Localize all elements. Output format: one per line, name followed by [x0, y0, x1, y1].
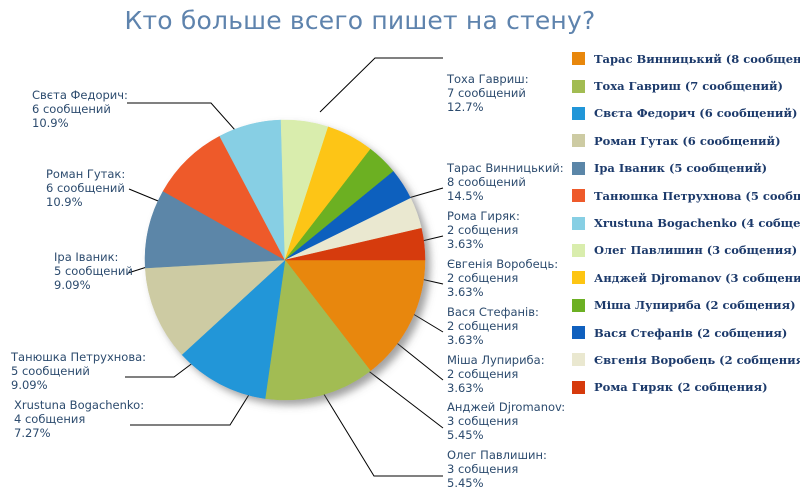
callout-count: 2 собщения [447, 223, 520, 237]
callout-percent: 7.27% [14, 426, 144, 440]
callout-percent: 10.9% [32, 116, 128, 130]
callout-percent: 3.63% [447, 285, 558, 299]
callout-roman-hutak: Роман Гутак:6 сообщений10.9% [46, 167, 125, 210]
legend-item-label: Іра Іваник (5 сообщений) [594, 161, 767, 175]
callout-svieta-fedorych: Свєта Федорич:6 сообщений10.9% [32, 88, 128, 131]
callout-name: Xrustuna Bogachenko: [14, 398, 144, 412]
legend-item[interactable]: Іра Іваник (5 сообщений) [572, 155, 800, 182]
legend-color-swatch [572, 162, 585, 175]
legend: Тарас Винницький (8 сообщений)Тоха Гаври… [572, 45, 800, 401]
legend-color-swatch [572, 189, 585, 202]
callout-percent: 14.5% [447, 189, 564, 203]
callout-vasia-stefaniv: Вася Стефанів:2 собщения3.63% [447, 305, 539, 348]
callout-oleh-pavlyshyn: Олег Павлишин:3 собщения5.45% [447, 448, 547, 491]
callout-count: 6 сообщений [46, 181, 125, 195]
callout-percent: 3.63% [447, 333, 539, 347]
callout-count: 8 сообщений [447, 175, 564, 189]
callout-misha-lupyryba: Міша Лупириба:2 собщения3.63% [447, 353, 545, 396]
callout-count: 6 сообщений [32, 102, 128, 116]
callout-taniushka-petrukhnova: Танюшка Петрухнова:5 сообщений9.09% [11, 350, 146, 393]
leader-line [362, 366, 443, 428]
callout-name: Анджей Djromanov: [447, 400, 565, 414]
legend-item-label: Тарас Винницький (8 сообщений) [594, 52, 800, 66]
callout-percent: 9.09% [54, 278, 133, 292]
legend-item-label: Рома Гиряк (2 собщения) [594, 380, 768, 394]
legend-item-label: Свєта Федорич (6 сообщений) [594, 106, 797, 120]
callout-percent: 5.45% [447, 428, 565, 442]
legend-color-swatch [572, 299, 585, 312]
callout-toha-gavrysh: Тоха Гавриш:7 сообщений12.7% [447, 72, 529, 115]
callout-ira-ivanyk: Іра Іваник:5 сообщений9.09% [54, 250, 133, 293]
callout-name: Міша Лупириба: [447, 353, 545, 367]
legend-color-swatch [572, 52, 585, 65]
callout-count: 2 собщения [447, 319, 539, 333]
legend-color-swatch [572, 107, 585, 120]
callout-taras-vynnytskyi: Тарас Винницький:8 сообщений14.5% [447, 161, 564, 204]
callout-count: 2 собщения [447, 367, 545, 381]
legend-item-label: Міша Лупириба (2 собщения) [594, 298, 796, 312]
callout-percent: 3.63% [447, 237, 520, 251]
callout-name: Євгенія Воробець: [447, 257, 558, 271]
legend-item-label: Роман Гутак (6 сообщений) [594, 134, 781, 148]
leader-line [320, 58, 443, 112]
callout-name: Вася Стефанів: [447, 305, 539, 319]
callout-name: Іра Іваник: [54, 250, 133, 264]
legend-item[interactable]: Xrustuna Bogachenko (4 собщения) [572, 209, 800, 236]
legend-item[interactable]: Тарас Винницький (8 сообщений) [572, 45, 800, 72]
legend-item[interactable]: Вася Стефанів (2 собщения) [572, 319, 800, 346]
legend-item-label: Танюшка Петрухнова (5 сообщений) [594, 189, 800, 203]
callout-percent: 9.09% [11, 378, 146, 392]
callout-count: 2 собщения [447, 271, 558, 285]
legend-item-label: Xrustuna Bogachenko (4 собщения) [594, 216, 800, 230]
callout-percent: 3.63% [447, 381, 545, 395]
callout-count: 3 собщения [447, 414, 565, 428]
pie-slices [145, 120, 425, 400]
legend-item-label: Євгенія Воробець (2 собщения) [594, 353, 800, 367]
callout-xrustuna-bogachenko: Xrustuna Bogachenko:4 собщения7.27% [14, 398, 144, 441]
legend-item[interactable]: Тоха Гавриш (7 сообщений) [572, 72, 800, 99]
callout-count: 5 сообщений [54, 264, 133, 278]
legend-item-label: Анджей Djromanov (3 собщения) [594, 271, 800, 285]
callout-count: 3 собщения [447, 462, 547, 476]
legend-color-swatch [572, 271, 585, 284]
legend-item[interactable]: Рома Гиряк (2 собщения) [572, 374, 800, 401]
legend-item-label: Тоха Гавриш (7 сообщений) [594, 79, 783, 93]
legend-item[interactable]: Євгенія Воробець (2 собщения) [572, 346, 800, 373]
callout-percent: 12.7% [447, 100, 529, 114]
legend-item[interactable]: Олег Павлишин (3 собщения) [572, 237, 800, 264]
callout-name: Свєта Федорич: [32, 88, 128, 102]
callout-roma-hyriak: Рома Гиряк:2 собщения3.63% [447, 209, 520, 252]
legend-color-swatch [572, 217, 585, 230]
legend-color-swatch [572, 134, 585, 147]
callout-andzhei-djromanov: Анджей Djromanov:3 собщения5.45% [447, 400, 565, 443]
legend-color-swatch [572, 353, 585, 366]
legend-color-swatch [572, 80, 585, 93]
legend-item[interactable]: Анджей Djromanov (3 собщения) [572, 264, 800, 291]
legend-color-swatch [572, 244, 585, 257]
legend-color-swatch [572, 326, 585, 339]
callout-name: Танюшка Петрухнова: [11, 350, 146, 364]
callout-percent: 10.9% [46, 195, 125, 209]
callout-count: 7 сообщений [447, 86, 529, 100]
legend-item[interactable]: Танюшка Петрухнова (5 сообщений) [572, 182, 800, 209]
legend-item-label: Вася Стефанів (2 собщения) [594, 326, 787, 340]
callout-name: Тоха Гавриш: [447, 72, 529, 86]
legend-item-label: Олег Павлишин (3 собщения) [594, 243, 797, 257]
callout-name: Тарас Винницький: [447, 161, 564, 175]
legend-item[interactable]: Міша Лупириба (2 собщения) [572, 292, 800, 319]
callout-name: Роман Гутак: [46, 167, 125, 181]
callout-count: 4 собщения [14, 412, 144, 426]
legend-color-swatch [572, 381, 585, 394]
legend-item[interactable]: Роман Гутак (6 сообщений) [572, 127, 800, 154]
callout-name: Рома Гиряк: [447, 209, 520, 223]
callout-name: Олег Павлишин: [447, 448, 547, 462]
leader-line [322, 391, 443, 476]
legend-item[interactable]: Свєта Федорич (6 сообщений) [572, 100, 800, 127]
callout-count: 5 сообщений [11, 364, 146, 378]
callout-yevheniia-vorobets: Євгенія Воробець:2 собщения3.63% [447, 257, 558, 300]
callout-percent: 5.45% [447, 476, 547, 490]
